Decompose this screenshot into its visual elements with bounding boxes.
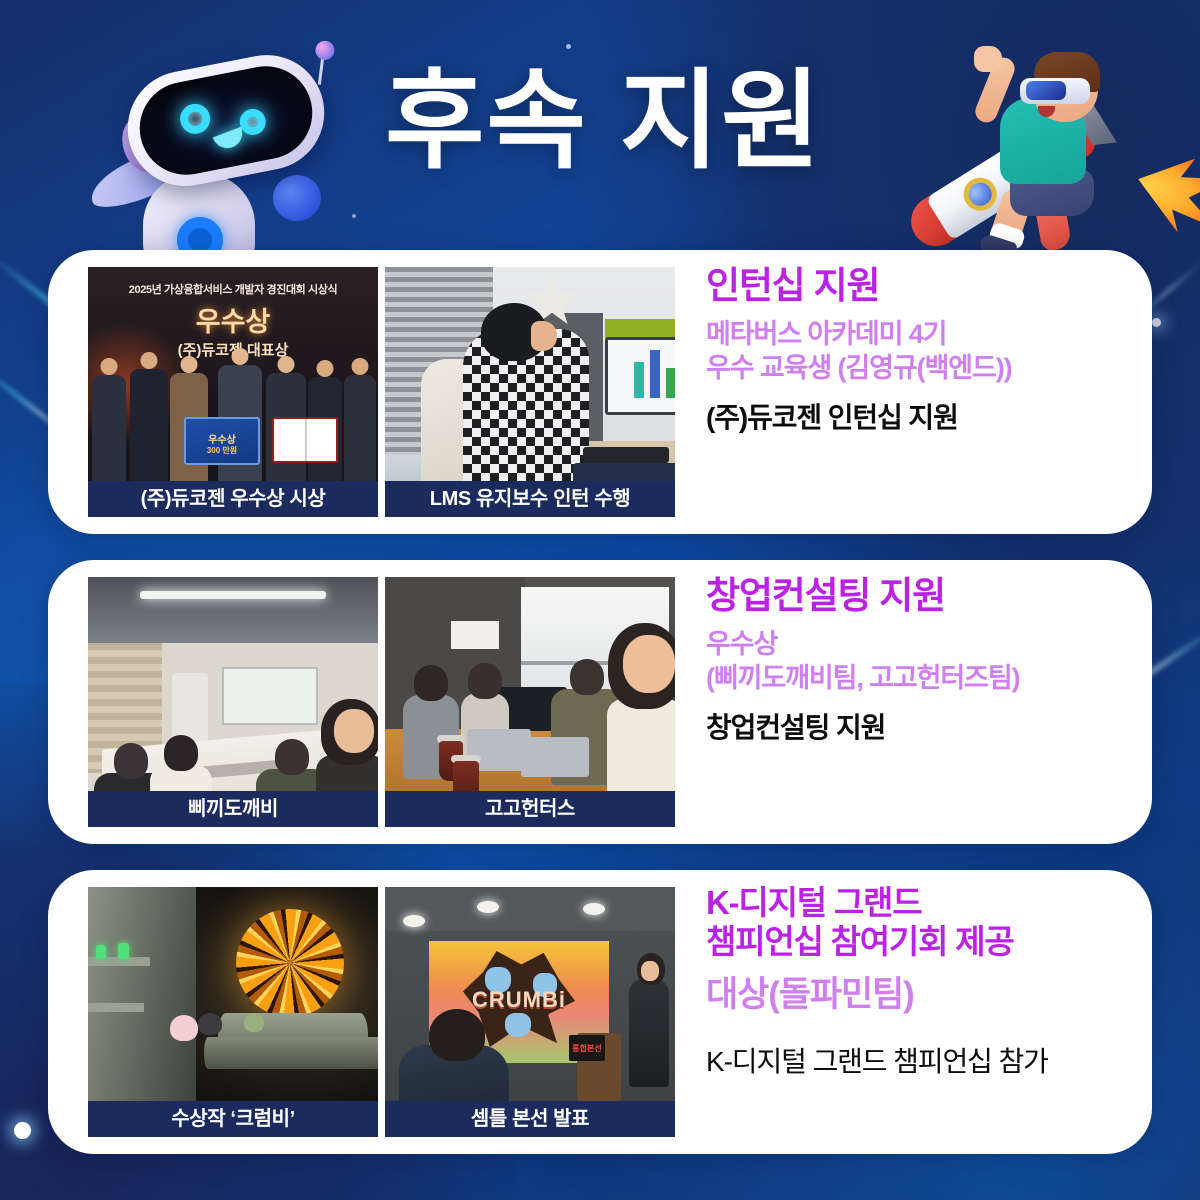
card-heading: 창업컨설팅 지원 [706,574,1124,618]
photo-thumbnail[interactable]: 2025년 가상융합서비스 개발자 경진대회 시상식 우수상 (주)듀코젠 대표… [88,267,378,517]
robot-side-accent [273,175,321,221]
rocket-flame-icon [1129,148,1200,240]
podium-display: 통합본선 [569,1035,605,1061]
photo-group: 2025년 가상융합서비스 개발자 경진대회 시상식 우수상 (주)듀코젠 대표… [88,267,675,517]
ceiling-light-icon [477,901,499,913]
award-ceremony-photo: 2025년 가상융합서비스 개발자 경진대회 시상식 우수상 (주)듀코젠 대표… [88,267,378,517]
photo-caption: 고고헌터스 [385,791,675,827]
support-card[interactable]: 수상작 ‘크럼비’ CRUMBi 통합본선 [48,870,1152,1154]
monitor-icon [605,337,675,415]
photo-thumbnail[interactable]: CRUMBi 통합본선 셈틀 본선 발표 [385,887,675,1137]
card-heading: K-디지털 그랜드 챔피언십 참여기회 제공 [706,884,1124,962]
vr-headset-lens [1026,81,1066,100]
game-character-green [244,1013,264,1032]
person-face [334,709,374,753]
robot-smile-icon [213,127,247,153]
meeting-room-team-photo [88,577,378,827]
ceiling [88,577,378,643]
photo-caption: 삐끼도깨비 [88,791,378,827]
card-subtitle: 메타버스 아카데미 4기 우수 교육생 (김영규(백엔드)) [706,317,1124,386]
stage-banner-line-2: 우수상 [88,300,378,339]
photo-thumbnail[interactable]: 고고헌터스 [385,577,675,827]
laptop-meeting-team-photo [385,577,675,827]
support-card[interactable]: 2025년 가상융합서비스 개발자 경진대회 시상식 우수상 (주)듀코젠 대표… [48,250,1152,534]
photo-group: 수상작 ‘크럼비’ CRUMBi 통합본선 [88,887,675,1137]
robot-head [118,45,334,196]
game-character-blob [505,1013,531,1037]
photo-group: 삐끼도깨비 [88,577,675,827]
award-board-icon: 우수상 300 만원 [184,417,260,465]
game-screenshot [88,887,378,1137]
glow-dot-icon [14,1122,31,1139]
keyboard-icon [583,447,669,463]
card-heading: 인턴십 지원 [706,264,1124,308]
person-face [531,321,557,351]
photo-caption: (주)듀코젠 우수상 시상 [88,481,378,517]
photo-thumbnail[interactable]: 삐끼도깨비 [88,577,378,827]
presentation-photo: CRUMBi 통합본선 [385,887,675,1137]
page-title: 후속 지원 [385,62,825,181]
stone-wall [88,887,196,1137]
game-character-pink [170,1015,198,1041]
glow-dot-icon [1152,318,1161,327]
photo-caption: 수상작 ‘크럼비’ [88,1101,378,1137]
card-subtitle: 우수상 (삐끼도깨비팀, 고고헌터즈팀) [706,627,1124,696]
podium-display-text: 통합본선 [569,1043,605,1054]
photo-thumbnail[interactable]: 수상작 ‘크럼비’ [88,887,378,1137]
whiteboard [222,667,318,725]
glowing-orb-icon [236,909,344,1017]
wall-notice [451,621,499,649]
photo-caption: LMS 유지보수 인턴 수행 [385,481,675,517]
card-body: (주)듀코젠 인턴십 지원 [706,400,1124,436]
card-subtitle: 대상(돌파민팀) [706,973,1124,1018]
presenter-body [629,979,669,1087]
header: 후속 지원 [0,0,1200,250]
person-face [623,635,675,693]
certificate-icon [272,417,338,463]
pedestal-base [204,1037,378,1069]
green-gem-icon [96,945,106,959]
photo-caption: 셈틀 본선 발표 [385,1101,675,1137]
vr-kid-rocket-icon [892,40,1162,265]
award-board-line-2: 300 만원 [186,445,258,456]
laptop-icon [521,737,589,777]
green-gem-icon [118,943,129,959]
office-desk-work-photo [385,267,675,517]
card-text-column: K-디지털 그랜드 챔피언십 참여기회 제공 대상(돌파민팀) K-디지털 그랜… [706,884,1124,1080]
kid-waving-hand-icon [974,46,1002,72]
robot-antenna-ball [314,39,336,61]
ceiling-light-icon [140,591,326,599]
robot-eye-left-icon [178,101,213,136]
game-character-dark [198,1013,222,1035]
audience-head [429,1009,485,1061]
ceiling [385,887,675,931]
card-text-column: 창업컨설팅 지원 우수상 (삐끼도깨비팀, 고고헌터즈팀) 창업컨설팅 지원 [706,574,1124,746]
support-card[interactable]: 삐끼도깨비 [48,560,1152,844]
robot-face-screen [132,58,321,182]
card-body: 창업컨설팅 지원 [706,710,1124,746]
card-body: K-디지털 그랜드 챔피언십 참가 [706,1044,1124,1080]
stage-banner-line-1: 2025년 가상융합서비스 개발자 경진대회 시상식 [88,281,378,297]
ceiling-light-icon [403,915,425,927]
award-board-line-1: 우수상 [186,431,258,446]
stone-shelf [88,1003,144,1012]
photo-thumbnail[interactable]: LMS 유지보수 인턴 수행 [385,267,675,517]
presenter-face [641,961,659,981]
card-text-column: 인턴십 지원 메타버스 아카데미 4기 우수 교육생 (김영규(백엔드)) (주… [706,264,1124,436]
robot-mascot-icon [95,45,325,260]
ceiling-light-icon [583,903,605,915]
